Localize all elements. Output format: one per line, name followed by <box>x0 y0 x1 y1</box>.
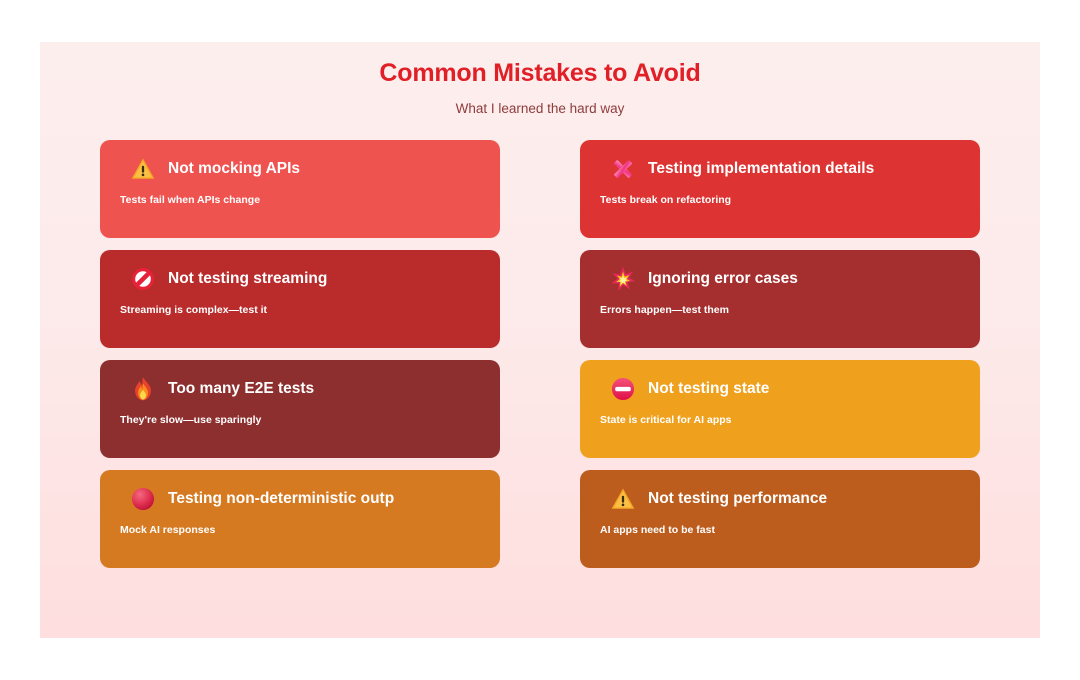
card-cell: Not testing streamingStreaming is comple… <box>100 250 540 348</box>
card-cell: Testing implementation detailsTests brea… <box>540 140 980 238</box>
card-cell: Not mocking APIsTests fail when APIs cha… <box>100 140 540 238</box>
card-header: Not testing streaming <box>120 266 480 292</box>
warning-triangle-icon <box>610 486 636 512</box>
red-circle-icon <box>130 486 156 512</box>
card-header: Testing non-deterministic outp <box>120 486 480 512</box>
card-cell: Ignoring error casesErrors happen—test t… <box>540 250 980 348</box>
card-title: Too many E2E tests <box>168 376 314 402</box>
mistake-card[interactable]: Testing non-deterministic outpMock AI re… <box>100 470 500 568</box>
mistake-card[interactable]: Not testing streamingStreaming is comple… <box>100 250 500 348</box>
card-description: They're slow—use sparingly <box>120 414 480 428</box>
prohibited-icon <box>130 266 156 292</box>
mistake-card[interactable]: Testing implementation detailsTests brea… <box>580 140 980 238</box>
page-title: Common Mistakes to Avoid <box>40 60 1040 88</box>
card-description: AI apps need to be fast <box>600 524 960 538</box>
card-title: Not testing state <box>648 376 769 402</box>
card-description: Mock AI responses <box>120 524 480 538</box>
no-entry-icon <box>610 376 636 402</box>
card-header: Too many E2E tests <box>120 376 480 402</box>
slide-root: Common Mistakes to Avoid What I learned … <box>0 0 1080 680</box>
card-header: Testing implementation details <box>600 156 960 182</box>
card-cell: Testing non-deterministic outpMock AI re… <box>100 470 540 568</box>
card-cell: Not testing stateState is critical for A… <box>540 360 980 458</box>
card-cell: Not testing performanceAI apps need to b… <box>540 470 980 568</box>
page-subtitle: What I learned the hard way <box>40 101 1040 117</box>
card-title: Not testing streaming <box>168 266 327 292</box>
card-header: Not testing performance <box>600 486 960 512</box>
card-description: State is critical for AI apps <box>600 414 960 428</box>
warning-triangle-icon <box>130 156 156 182</box>
mistake-card[interactable]: Not mocking APIsTests fail when APIs cha… <box>100 140 500 238</box>
card-header: Not testing state <box>600 376 960 402</box>
card-title: Testing implementation details <box>648 156 874 182</box>
card-title: Not mocking APIs <box>168 156 300 182</box>
card-header: Ignoring error cases <box>600 266 960 292</box>
mistake-card-grid: Not mocking APIsTests fail when APIs cha… <box>100 140 980 568</box>
card-description: Tests fail when APIs change <box>120 194 480 208</box>
card-title: Not testing performance <box>648 486 827 512</box>
collision-icon <box>610 266 636 292</box>
card-description: Errors happen—test them <box>600 304 960 318</box>
card-cell: Too many E2E testsThey're slow—use spari… <box>100 360 540 458</box>
slide-header: Common Mistakes to Avoid What I learned … <box>40 42 1040 117</box>
mistake-card[interactable]: Too many E2E testsThey're slow—use spari… <box>100 360 500 458</box>
content-panel: Common Mistakes to Avoid What I learned … <box>40 42 1040 638</box>
card-description: Tests break on refactoring <box>600 194 960 208</box>
mistake-card[interactable]: Not testing stateState is critical for A… <box>580 360 980 458</box>
mistake-card[interactable]: Not testing performanceAI apps need to b… <box>580 470 980 568</box>
cross-mark-icon <box>610 156 636 182</box>
card-title: Ignoring error cases <box>648 266 798 292</box>
mistake-card[interactable]: Ignoring error casesErrors happen—test t… <box>580 250 980 348</box>
card-header: Not mocking APIs <box>120 156 480 182</box>
fire-icon <box>130 376 156 402</box>
card-title: Testing non-deterministic outp <box>168 486 394 512</box>
card-description: Streaming is complex—test it <box>120 304 480 318</box>
